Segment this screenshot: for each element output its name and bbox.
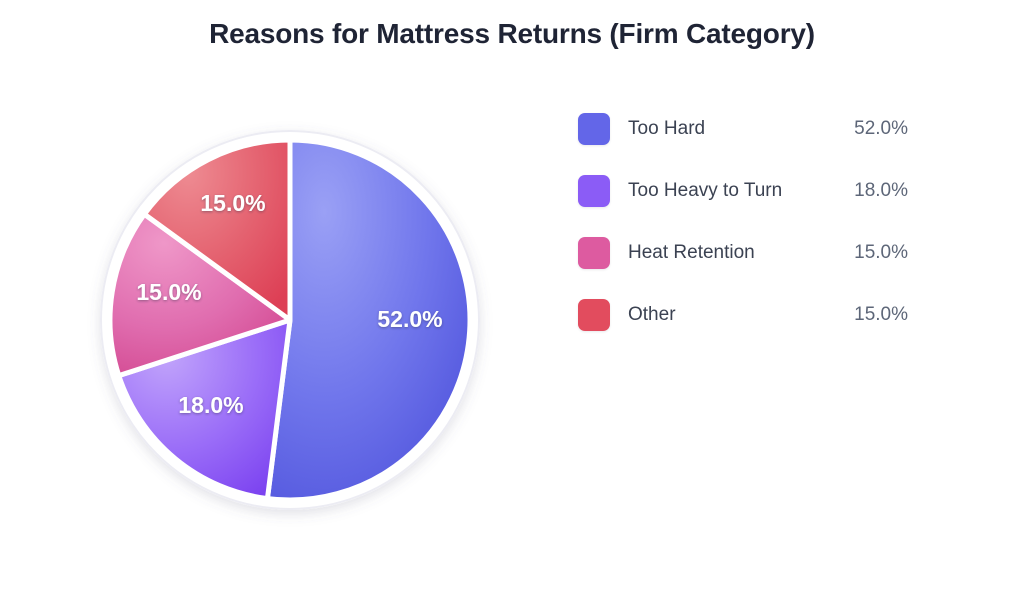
pie-slice-value-label: 15.0% (136, 279, 201, 305)
legend-item-label: Heat Retention (628, 242, 755, 264)
legend-item-label: Too Heavy to Turn (628, 180, 782, 202)
legend-swatch-icon (578, 237, 610, 269)
legend-swatch-icon (578, 113, 610, 145)
legend-item-value: 15.0% (854, 242, 908, 264)
pie-slice-value-label: 18.0% (178, 392, 243, 418)
pie-slice-value-label: 52.0% (377, 306, 442, 332)
legend-item-value: 18.0% (854, 180, 908, 202)
legend-item-value: 52.0% (854, 118, 908, 140)
legend-item-value: 15.0% (854, 304, 908, 326)
chart-figure: Reasons for Mattress Returns (Firm Categ… (0, 0, 1024, 614)
pie-chart-svg: 52.0%18.0%15.0%15.0% (0, 0, 560, 614)
legend-swatch-icon (578, 175, 610, 207)
legend-item[interactable]: Heat Retention 15.0% (578, 234, 908, 272)
legend-item-label: Other (628, 304, 676, 326)
chart-legend: Too Hard 52.0% Too Heavy to Turn 18.0% H… (578, 110, 908, 358)
legend-item[interactable]: Too Hard 52.0% (578, 110, 908, 148)
legend-item[interactable]: Too Heavy to Turn 18.0% (578, 172, 908, 210)
legend-swatch-icon (578, 299, 610, 331)
legend-item[interactable]: Other 15.0% (578, 296, 908, 334)
pie-slice-value-label: 15.0% (200, 190, 265, 216)
legend-item-label: Too Hard (628, 118, 705, 140)
pie-chart-plot-area: 52.0%18.0%15.0%15.0% (0, 0, 560, 614)
